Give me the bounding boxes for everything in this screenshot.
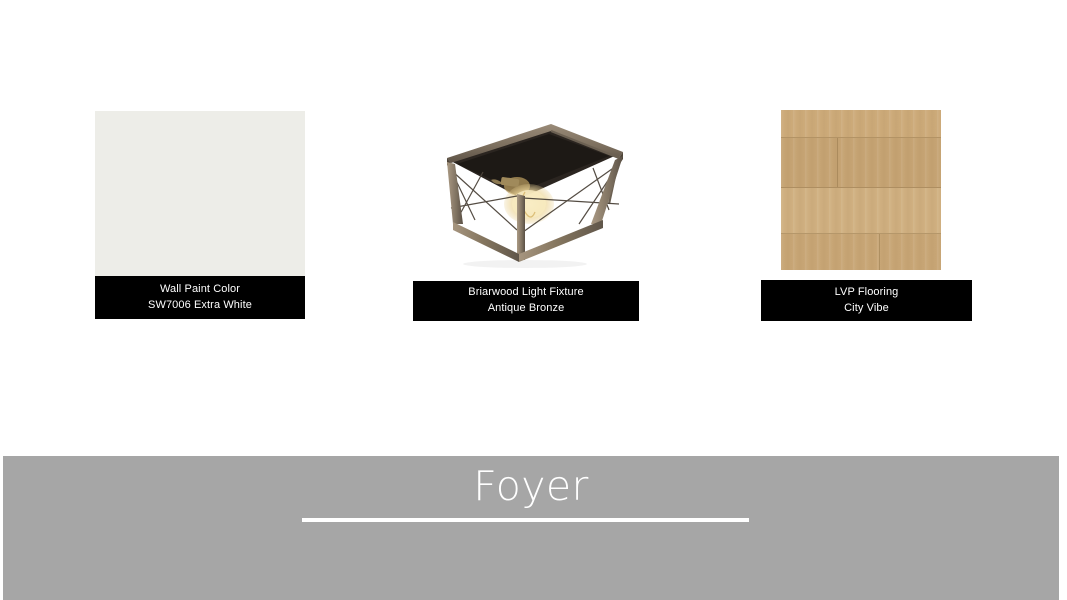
plank-row (781, 234, 941, 270)
title-underline-rule (302, 518, 749, 522)
plank-row (781, 138, 941, 188)
flooring-label-line1: LVP Flooring (835, 285, 899, 301)
paint-label-line2: SW7006 Extra White (148, 298, 252, 314)
plank-stack (781, 110, 941, 270)
paint-swatch-image (95, 111, 305, 277)
light-fixture-label-line1: Briarwood Light Fixture (468, 285, 583, 301)
light-fixture-illustration (413, 112, 639, 272)
flooring-label-box: LVP Flooring City Vibe (761, 280, 972, 321)
light-fixture-label-line2: Antique Bronze (488, 301, 565, 317)
light-fixture-label-box: Briarwood Light Fixture Antique Bronze (413, 281, 639, 321)
paint-label-box: Wall Paint Color SW7006 Extra White (95, 276, 305, 319)
design-board: Wall Paint Color SW7006 Extra White (0, 0, 1067, 600)
plank-row (781, 110, 941, 138)
light-fixture-image (413, 112, 639, 272)
room-title: Foyer (3, 466, 1059, 507)
flooring-sample-image (781, 110, 941, 270)
paint-label-line1: Wall Paint Color (160, 282, 240, 298)
plank-row (781, 188, 941, 234)
footer-banner: Foyer (3, 456, 1059, 600)
flooring-label-line2: City Vibe (844, 301, 889, 317)
